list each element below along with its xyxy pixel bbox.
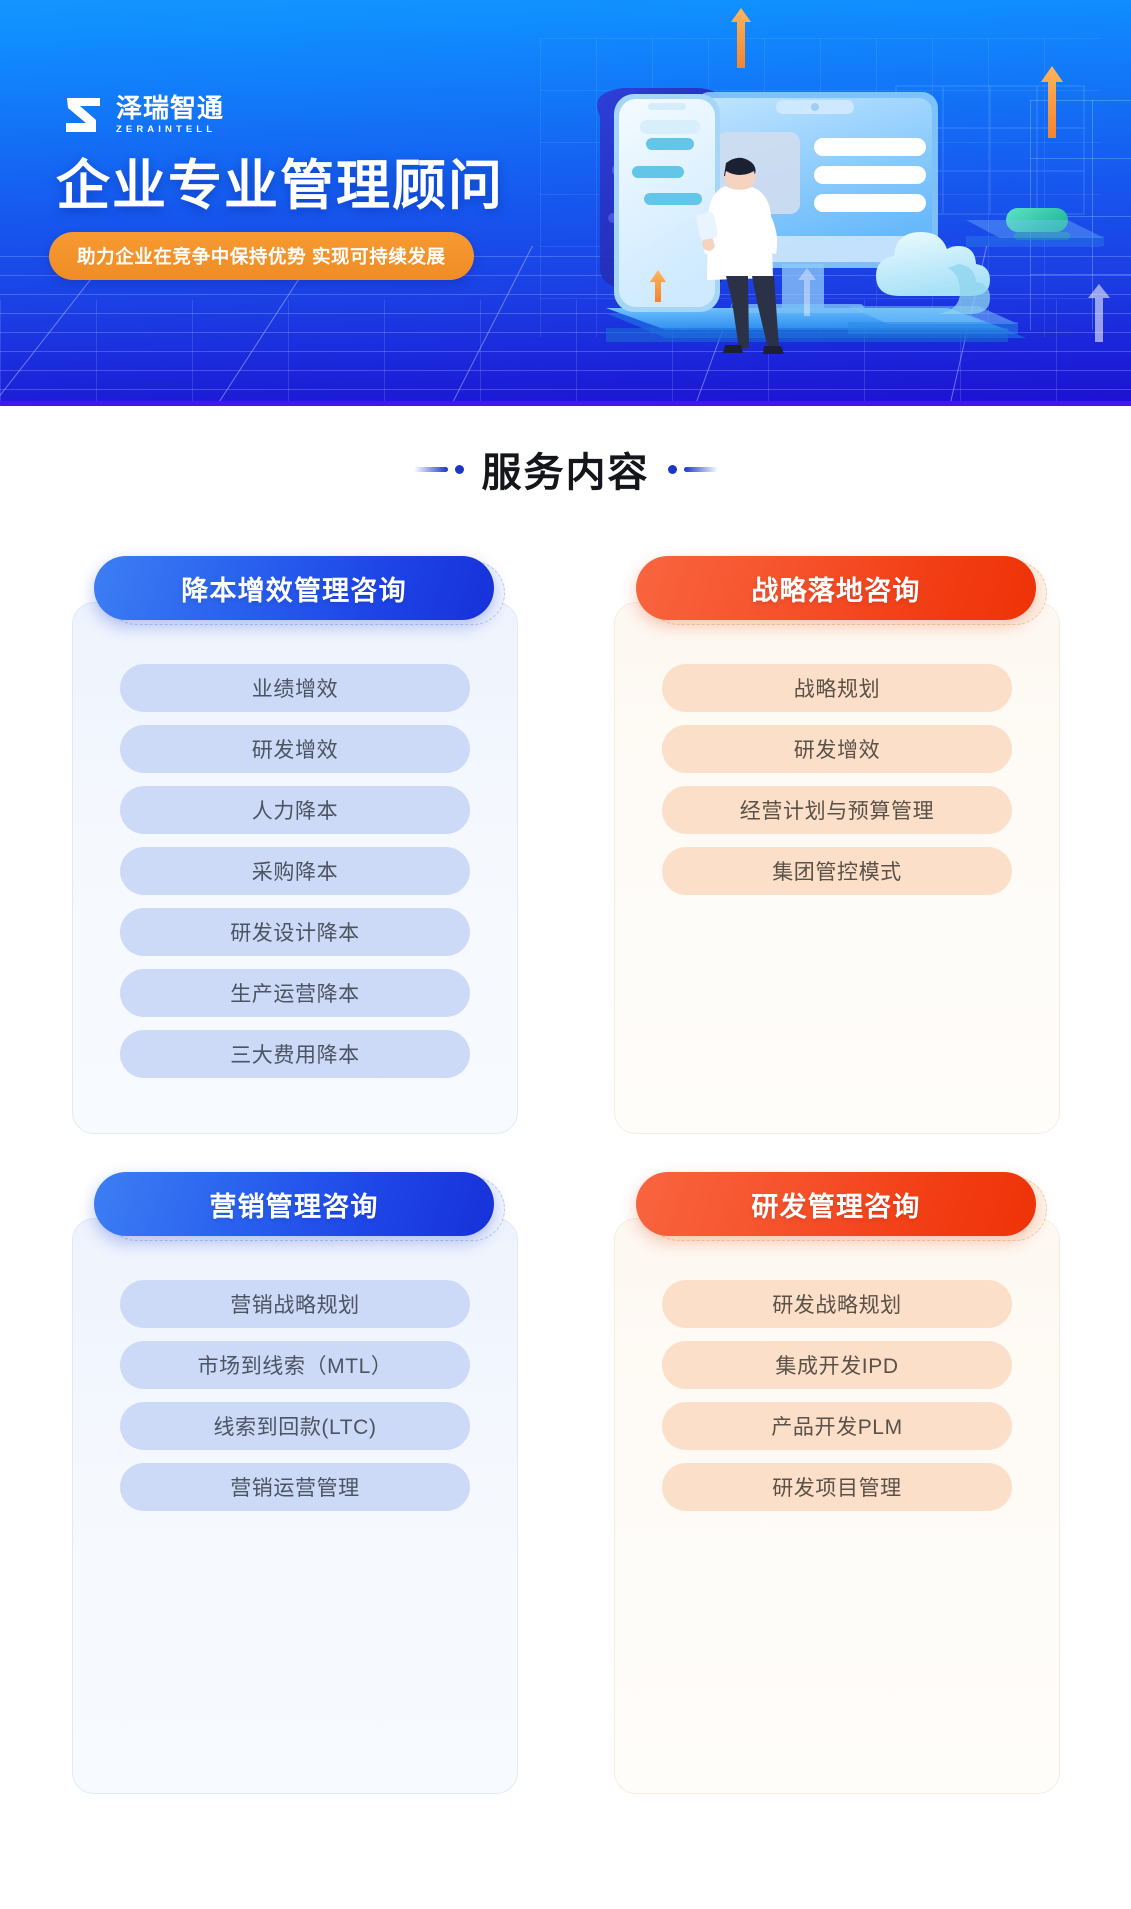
list-item[interactable]: 研发增效 bbox=[662, 725, 1012, 773]
list-item-label: 业绩增效 bbox=[252, 673, 338, 703]
card-title: 战略落地咨询 bbox=[751, 569, 920, 608]
list-item[interactable]: 集团管控模式 bbox=[662, 847, 1012, 895]
list-item[interactable]: 业绩增效 bbox=[120, 664, 470, 712]
service-card-cost-reduction[interactable]: 降本增效管理咨询 业绩增效 研发增效 人力降本 采购降本 研发设计降本 生产运营… bbox=[38, 556, 552, 1134]
list-item[interactable]: 营销战略规划 bbox=[120, 1280, 470, 1328]
list-item-label: 研发项目管理 bbox=[772, 1472, 902, 1502]
card-item-list: 战略规划 研发增效 经营计划与预算管理 集团管控模式 bbox=[662, 664, 1012, 895]
card-item-list: 研发战略规划 集成开发IPD 产品开发PLM 研发项目管理 bbox=[662, 1280, 1012, 1511]
dash-dot-left-icon bbox=[414, 465, 464, 474]
card-title: 营销管理咨询 bbox=[209, 1185, 378, 1224]
list-item[interactable]: 研发战略规划 bbox=[662, 1280, 1012, 1328]
hero-banner: 泽瑞智通 ZERAINTELL 企业专业管理顾问 助力企业在竞争中保持优势 实现… bbox=[0, 0, 1131, 406]
card-title: 研发管理咨询 bbox=[751, 1185, 920, 1224]
list-item[interactable]: 人力降本 bbox=[120, 786, 470, 834]
list-item[interactable]: 经营计划与预算管理 bbox=[662, 786, 1012, 834]
brand-logo[interactable]: 泽瑞智通 ZERAINTELL bbox=[62, 95, 224, 135]
hero-tagline-text: 助力企业在竞争中保持优势 实现可持续发展 bbox=[77, 243, 446, 269]
list-item-label: 人力降本 bbox=[252, 795, 338, 825]
list-item-label: 经营计划与预算管理 bbox=[740, 795, 934, 825]
section-header: 服务内容 bbox=[0, 440, 1131, 498]
dash-dot-right-icon bbox=[668, 465, 718, 474]
list-item-label: 产品开发PLM bbox=[771, 1411, 902, 1441]
hero-illustration bbox=[548, 8, 1131, 406]
list-item-label: 研发增效 bbox=[252, 734, 338, 764]
hero-tagline-badge: 助力企业在竞争中保持优势 实现可持续发展 bbox=[49, 232, 474, 280]
list-item[interactable]: 研发增效 bbox=[120, 725, 470, 773]
list-item-label: 生产运营降本 bbox=[230, 978, 360, 1008]
list-item[interactable]: 市场到线索（MTL） bbox=[120, 1341, 470, 1389]
service-overview-page: 泽瑞智通 ZERAINTELL 企业专业管理顾问 助力企业在竞争中保持优势 实现… bbox=[0, 0, 1131, 1909]
list-item[interactable]: 线索到回款(LTC) bbox=[120, 1402, 470, 1450]
list-item[interactable]: 战略规划 bbox=[662, 664, 1012, 712]
list-item[interactable]: 生产运营降本 bbox=[120, 969, 470, 1017]
service-card-rnd-management[interactable]: 研发管理咨询 研发战略规划 集成开发IPD 产品开发PLM 研发项目管理 bbox=[580, 1172, 1094, 1794]
list-item-label: 采购降本 bbox=[252, 856, 338, 886]
card-header-pill: 降本增效管理咨询 bbox=[94, 556, 494, 620]
list-item-label: 研发增效 bbox=[794, 734, 880, 764]
card-item-list: 营销战略规划 市场到线索（MTL） 线索到回款(LTC) 营销运营管理 bbox=[120, 1280, 470, 1511]
list-item[interactable]: 集成开发IPD bbox=[662, 1341, 1012, 1389]
list-item[interactable]: 产品开发PLM bbox=[662, 1402, 1012, 1450]
list-item-label: 线索到回款(LTC) bbox=[213, 1411, 376, 1441]
page-title: 服务内容 bbox=[482, 440, 650, 498]
service-card-marketing-management[interactable]: 营销管理咨询 营销战略规划 市场到线索（MTL） 线索到回款(LTC) 营销运营… bbox=[38, 1172, 552, 1794]
list-item-label: 市场到线索（MTL） bbox=[198, 1350, 393, 1380]
service-card-grid: 降本增效管理咨询 业绩增效 研发增效 人力降本 采购降本 研发设计降本 生产运营… bbox=[0, 556, 1131, 1794]
card-header-pill: 营销管理咨询 bbox=[94, 1172, 494, 1236]
card-header-pill: 战略落地咨询 bbox=[636, 556, 1036, 620]
list-item-label: 集成开发IPD bbox=[775, 1350, 898, 1380]
list-item[interactable]: 研发设计降本 bbox=[120, 908, 470, 956]
list-item[interactable]: 研发项目管理 bbox=[662, 1463, 1012, 1511]
list-item-label: 营销运营管理 bbox=[230, 1472, 360, 1502]
service-card-strategy-execution[interactable]: 战略落地咨询 战略规划 研发增效 经营计划与预算管理 集团管控模式 bbox=[580, 556, 1094, 1134]
card-item-list: 业绩增效 研发增效 人力降本 采购降本 研发设计降本 生产运营降本 三大费用降本 bbox=[120, 664, 470, 1078]
hero-bottom-edge bbox=[0, 401, 1131, 406]
list-item-label: 营销战略规划 bbox=[230, 1289, 360, 1319]
card-header-pill: 研发管理咨询 bbox=[636, 1172, 1036, 1236]
list-item[interactable]: 采购降本 bbox=[120, 847, 470, 895]
list-item-label: 研发设计降本 bbox=[230, 917, 360, 947]
list-item-label: 集团管控模式 bbox=[772, 856, 902, 886]
list-item[interactable]: 营销运营管理 bbox=[120, 1463, 470, 1511]
logo-english-name: ZERAINTELL bbox=[116, 125, 224, 135]
list-item-label: 三大费用降本 bbox=[230, 1039, 360, 1069]
zr-monogram-icon bbox=[62, 95, 104, 135]
hero-headline: 企业专业管理顾问 bbox=[56, 141, 504, 220]
list-item-label: 研发战略规划 bbox=[772, 1289, 902, 1319]
logo-chinese-name: 泽瑞智通 bbox=[116, 95, 224, 121]
list-item-label: 战略规划 bbox=[794, 673, 880, 703]
list-item[interactable]: 三大费用降本 bbox=[120, 1030, 470, 1078]
card-title: 降本增效管理咨询 bbox=[181, 569, 407, 608]
